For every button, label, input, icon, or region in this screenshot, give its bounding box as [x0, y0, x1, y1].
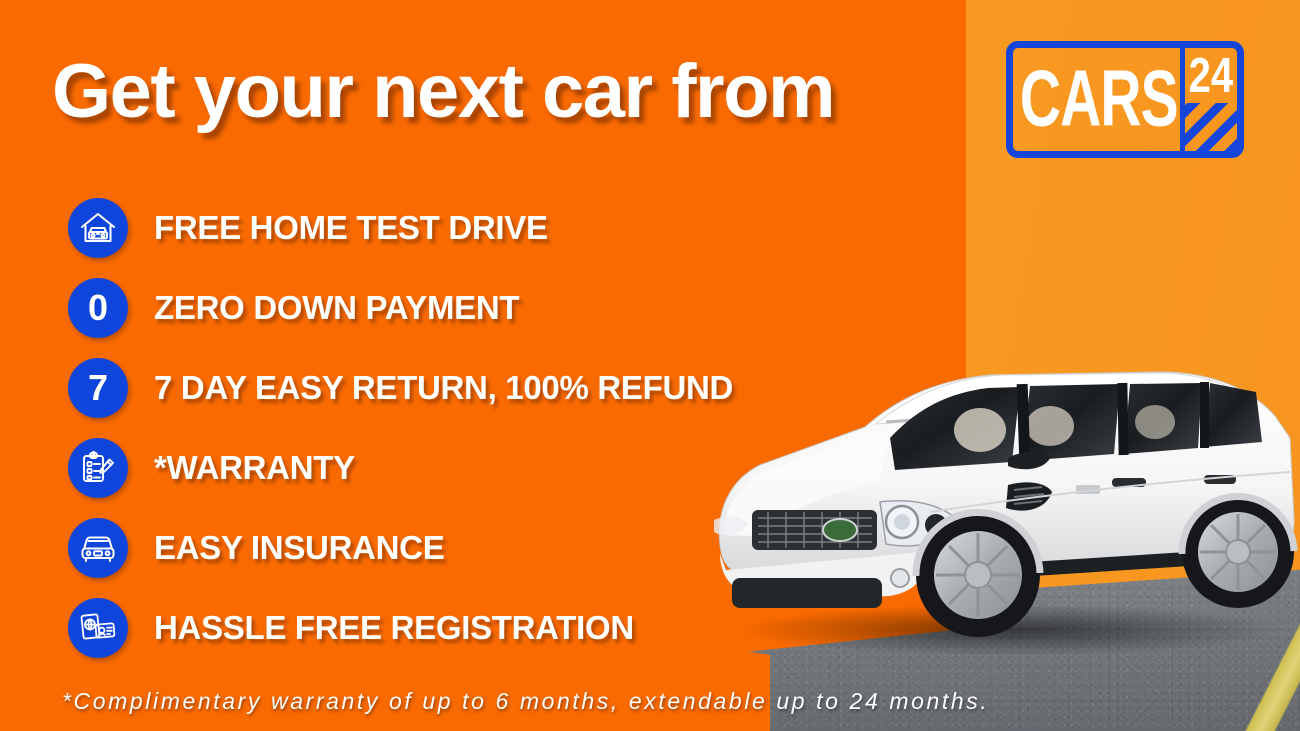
feature-item-easy-insurance[interactable]: EASY INSURANCE	[68, 518, 733, 578]
feature-list: FREE HOME TEST DRIVE 0 ZERO DOWN PAYMENT…	[68, 198, 733, 678]
documents-id-icon	[68, 598, 128, 658]
logo-wordmark: CARS	[1020, 60, 1178, 139]
feature-label: EASY INSURANCE	[154, 529, 444, 567]
feature-item-zero-down-payment[interactable]: 0 ZERO DOWN PAYMENT	[68, 278, 733, 338]
logo-diagonal-stripes-icon	[1185, 103, 1237, 151]
feature-label: *WARRANTY	[154, 449, 355, 487]
logo-number-panel: 24	[1185, 48, 1237, 151]
feature-label: HASSLE FREE REGISTRATION	[154, 609, 634, 647]
feature-item-warranty[interactable]: *WARRANTY	[68, 438, 733, 498]
feature-label: FREE HOME TEST DRIVE	[154, 209, 548, 247]
feature-item-hassle-free-registration[interactable]: HASSLE FREE REGISTRATION	[68, 598, 733, 658]
home-garage-car-icon	[68, 198, 128, 258]
suv-car-image	[690, 330, 1300, 660]
logo-word-panel: CARS	[1013, 48, 1185, 151]
clipboard-pencil-icon	[68, 438, 128, 498]
cars24-promo-banner: Get your next car from CARS 24	[0, 0, 1300, 731]
feature-item-seven-day-easy-return[interactable]: 7 7 DAY EASY RETURN, 100% REFUND	[68, 358, 733, 418]
feature-item-free-home-test-drive[interactable]: FREE HOME TEST DRIVE	[68, 198, 733, 258]
logo-number: 24	[1189, 52, 1234, 101]
car-front-icon	[68, 518, 128, 578]
badge-number: 7	[88, 370, 108, 406]
feature-label: 7 DAY EASY RETURN, 100% REFUND	[154, 369, 733, 407]
seven-digit-icon: 7	[68, 358, 128, 418]
disclaimer-text: *Complimentary warranty of up to 6 month…	[62, 688, 989, 715]
cars24-logo[interactable]: CARS 24	[1006, 41, 1244, 158]
page-title: Get your next car from	[52, 54, 834, 130]
feature-label: ZERO DOWN PAYMENT	[154, 289, 519, 327]
zero-digit-icon: 0	[68, 278, 128, 338]
badge-number: 0	[88, 290, 108, 326]
